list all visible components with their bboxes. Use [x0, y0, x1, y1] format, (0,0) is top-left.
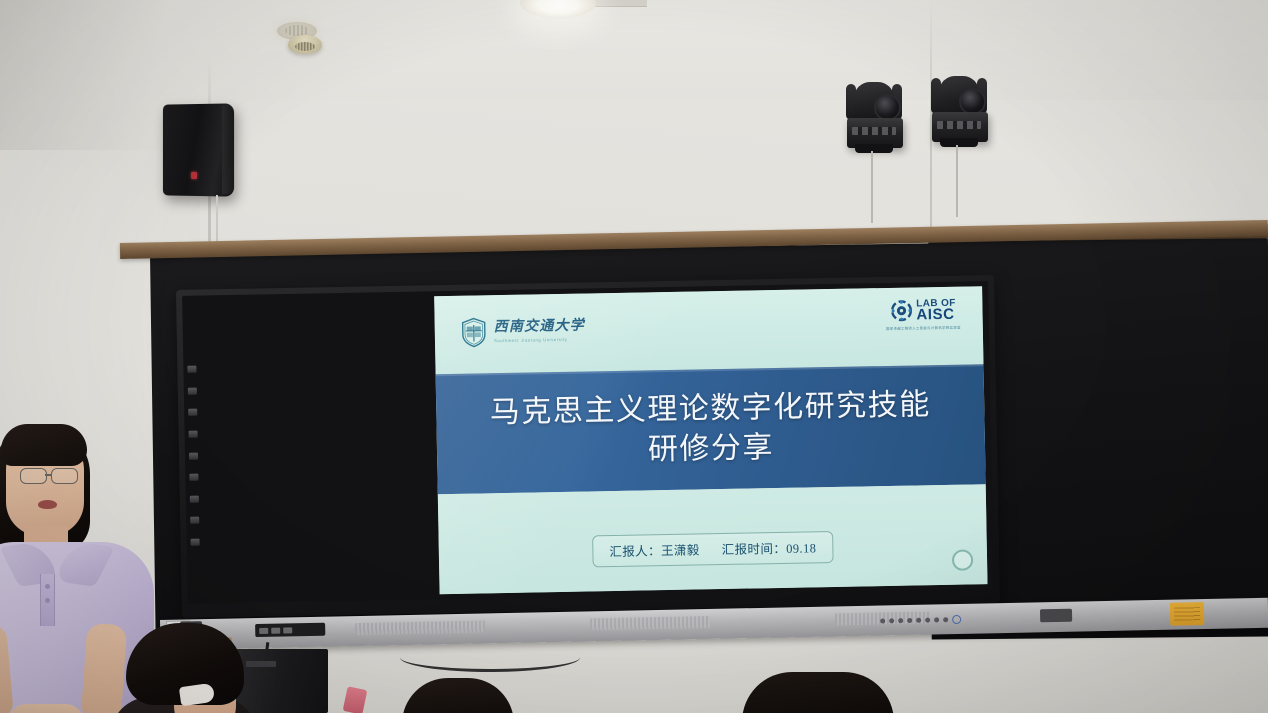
- side-button[interactable]: [189, 474, 198, 481]
- control-button[interactable]: [916, 618, 921, 623]
- control-button[interactable]: [907, 618, 912, 623]
- side-button[interactable]: [188, 387, 197, 394]
- lab-logo-row: LAB OF AISC: [890, 299, 956, 323]
- bezel-control-buttons[interactable]: [880, 615, 961, 626]
- slide-footer: 汇报人：王潇毅 汇报时间：09.18: [438, 484, 988, 594]
- power-button-icon[interactable]: [952, 615, 961, 624]
- shirt-button: [45, 598, 50, 603]
- presenter-arm-right: [81, 623, 128, 713]
- aisc-network-mark-icon: [890, 300, 912, 322]
- control-button[interactable]: [898, 618, 903, 623]
- bezel-speaker-grille: [590, 616, 710, 630]
- smoke-detector-icon: [288, 35, 322, 54]
- university-name-en: Southwest Jiaotong University: [494, 337, 585, 344]
- side-button[interactable]: [189, 452, 198, 459]
- presenter-info-pill: 汇报人：王潇毅 汇报时间：09.18: [592, 531, 833, 567]
- presenter-mouth: [38, 500, 57, 509]
- side-button[interactable]: [190, 495, 199, 502]
- audience-member-2: [402, 678, 522, 713]
- audience-member-3: [742, 672, 902, 713]
- camera-lens-icon: [959, 88, 986, 115]
- camera-mount-stem: [871, 151, 873, 223]
- slide-title-line1: 马克思主义理论数字化研究技能: [489, 385, 931, 433]
- bezel-speaker-grille: [355, 620, 485, 635]
- audience-hair: [402, 678, 514, 713]
- shirt-button: [45, 584, 50, 589]
- usb-port[interactable]: [271, 627, 280, 633]
- ptz-camera-left: [843, 78, 905, 154]
- side-button[interactable]: [191, 539, 200, 546]
- lab-logo-text: LAB OF AISC: [916, 299, 956, 323]
- camera-bracket: [940, 138, 978, 147]
- camera-mount-stem: [956, 145, 958, 217]
- slide-title-band: 马克思主义理论数字化研究技能 研修分享: [436, 364, 986, 494]
- university-name-block: 西南交通大学 Southwest Jiaotong University: [494, 320, 586, 344]
- wall-speaker: [163, 103, 234, 196]
- presenter-label: 汇报人：王潇毅: [609, 539, 700, 560]
- lab-logo-line2: AISC: [916, 308, 956, 323]
- side-button[interactable]: [187, 366, 196, 373]
- side-button[interactable]: [188, 409, 197, 416]
- glasses-lens-right: [51, 468, 78, 484]
- glasses-lens-left: [20, 468, 47, 484]
- usb-port[interactable]: [259, 627, 268, 633]
- date-label: 汇报时间：09.18: [721, 537, 816, 558]
- control-button[interactable]: [889, 618, 894, 623]
- control-button[interactable]: [880, 618, 885, 623]
- control-button[interactable]: [925, 618, 930, 623]
- interactive-smart-board[interactable]: 西南交通大学 Southwest Jiaotong University: [176, 275, 1000, 618]
- audience-hair: [742, 672, 894, 713]
- bezel-warning-sticker: [1170, 602, 1204, 626]
- speaker-led-icon: [191, 172, 197, 179]
- lab-logo-subtitle: 国家卓越工程师人工智能与计算机学院实验室: [886, 325, 961, 331]
- audience-member-1: [126, 623, 250, 713]
- side-button[interactable]: [190, 517, 199, 524]
- presenter-fringe: [1, 424, 87, 466]
- hdmi-port[interactable]: [283, 627, 292, 633]
- university-shield-icon: [461, 317, 488, 347]
- control-button[interactable]: [943, 617, 948, 622]
- bezel-usb-ports[interactable]: [255, 623, 325, 637]
- ptz-camera-right: [928, 72, 990, 148]
- university-logo: 西南交通大学 Southwest Jiaotong University: [461, 316, 586, 348]
- glasses-bridge: [45, 474, 51, 476]
- camera-lens-icon: [874, 94, 901, 121]
- hanging-cable: [400, 643, 580, 672]
- classroom-photo-scene: 西南交通大学 Southwest Jiaotong University: [0, 0, 1268, 713]
- glasses-icon: [20, 468, 82, 483]
- side-button[interactable]: [189, 431, 198, 438]
- presentation-slide[interactable]: 西南交通大学 Southwest Jiaotong University: [434, 286, 987, 594]
- camera-bracket: [855, 144, 893, 153]
- control-button[interactable]: [934, 617, 939, 622]
- slide-header: 西南交通大学 Southwest Jiaotong University: [434, 286, 983, 374]
- lab-logo: LAB OF AISC 国家卓越工程师人工智能与计算机学院实验室: [885, 299, 960, 331]
- camera-button-row: [937, 121, 981, 129]
- presenter-hands: [8, 704, 84, 713]
- bezel-port-right[interactable]: [1040, 609, 1072, 623]
- slide-title-line2: 研修分享: [648, 428, 775, 470]
- university-name-cn: 西南交通大学: [494, 320, 585, 336]
- camera-button-row: [852, 127, 896, 135]
- slide-decoration-circle-icon: [952, 549, 973, 570]
